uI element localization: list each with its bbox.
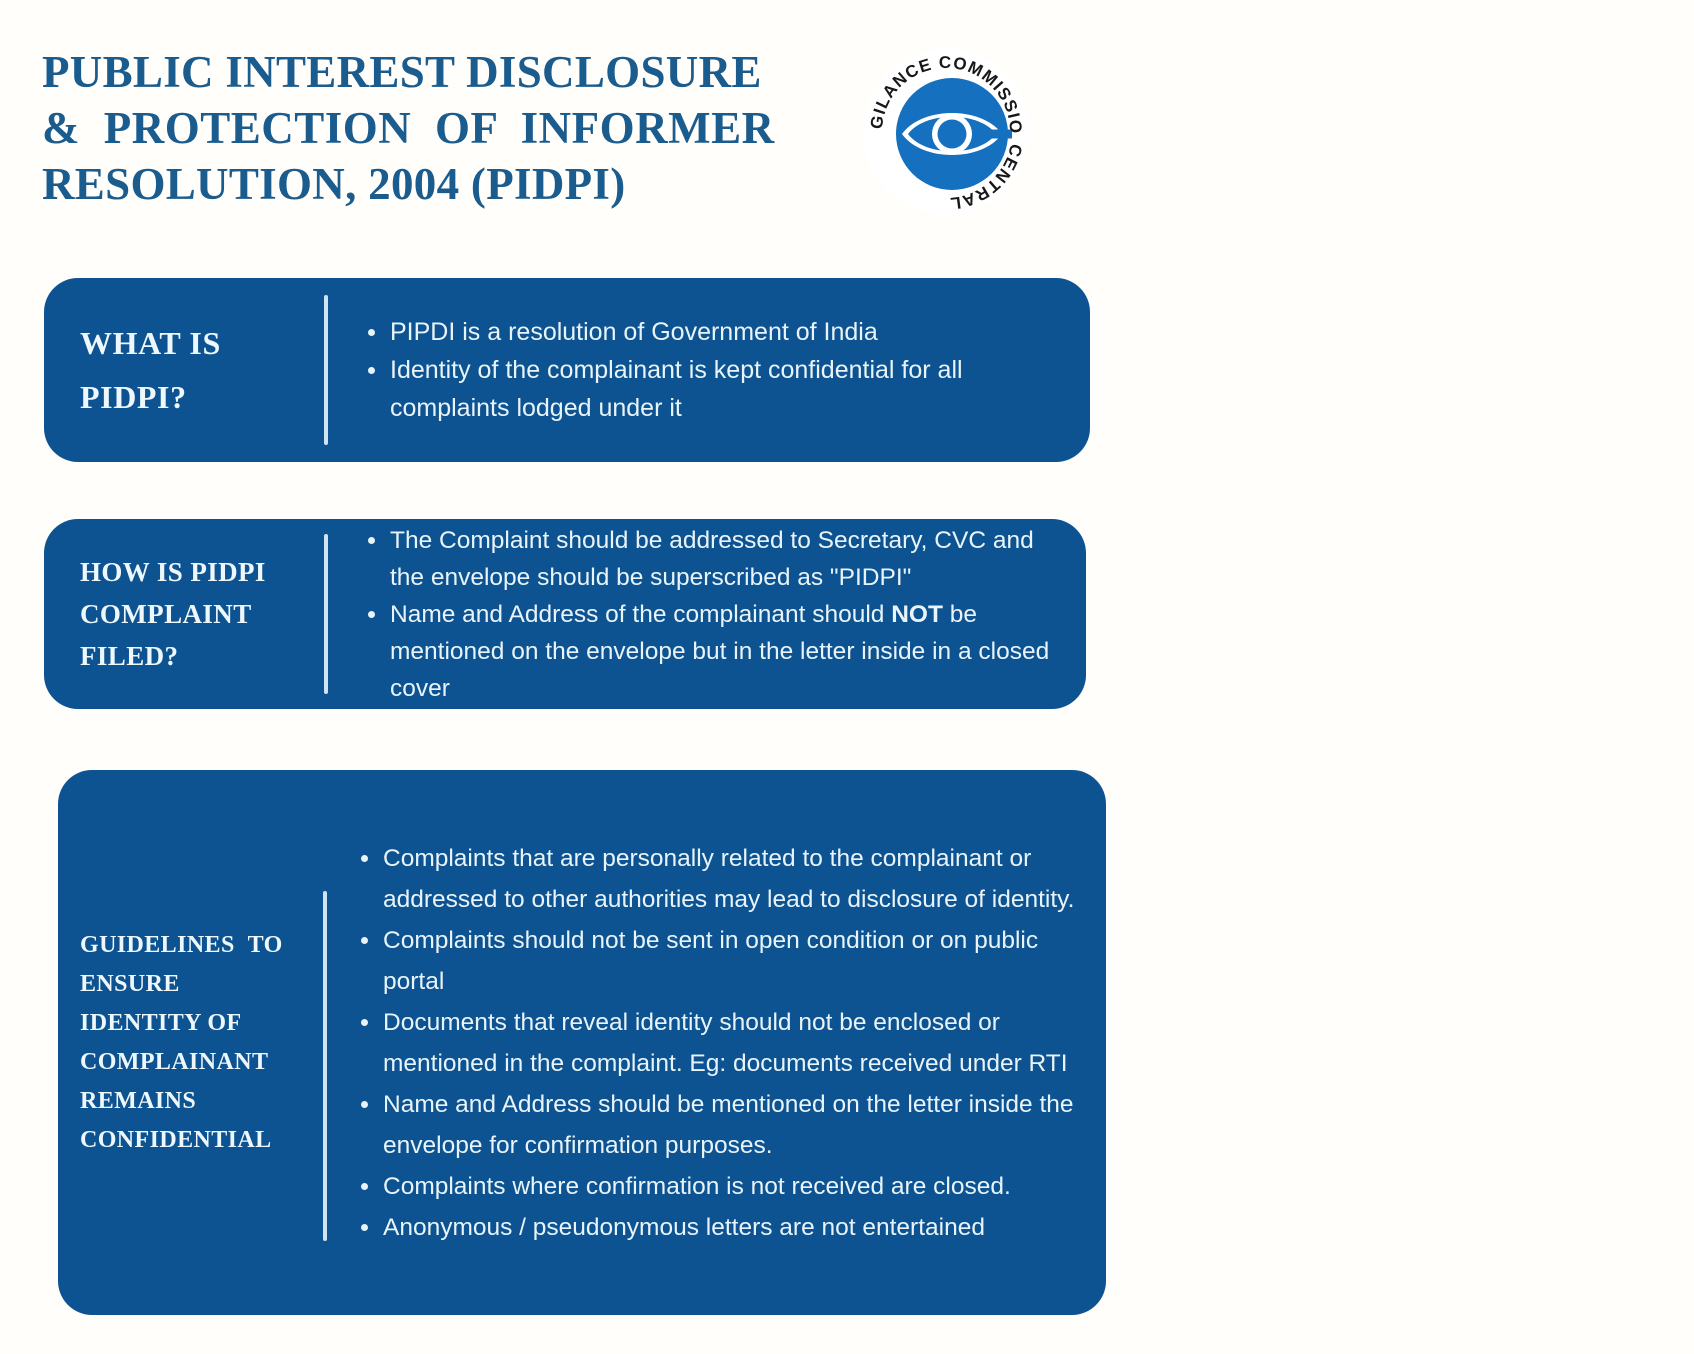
bullet-list-how-is-pidpi-complaint-filed: The Complaint should be addressed to Sec… bbox=[328, 522, 1086, 707]
list-item: Identity of the complainant is kept conf… bbox=[352, 351, 1072, 427]
bullet-text: Complaints that are personally related t… bbox=[383, 838, 1088, 920]
list-item: Complaints that are personally related t… bbox=[345, 838, 1088, 920]
bullet-text: Complaints where confirmation is not rec… bbox=[383, 1166, 1088, 1207]
bullet-text: PIPDI is a resolution of Government of I… bbox=[390, 313, 1072, 351]
card-label-line: IDENTITY OF bbox=[80, 1004, 323, 1043]
page-title-line-2: & PROTECTION OF INFORMER bbox=[42, 100, 842, 156]
bullet-text-emphasis: NOT bbox=[891, 601, 943, 628]
infographic-page: PUBLIC INTEREST DISCLOSURE & PROTECTION … bbox=[0, 0, 1694, 1354]
bullet-text: Complaints should not be sent in open co… bbox=[383, 920, 1088, 1002]
page-title: PUBLIC INTEREST DISCLOSURE & PROTECTION … bbox=[42, 44, 842, 212]
bullet-text: Documents that reveal identity should no… bbox=[383, 1002, 1088, 1084]
bullet-text: Anonymous / pseudonymous letters are not… bbox=[383, 1207, 1088, 1248]
bullet-list-guidelines: Complaints that are personally related t… bbox=[327, 838, 1106, 1248]
bullet-text-composite: Name and Address of the complainant shou… bbox=[390, 596, 1068, 707]
card-label-line: WHAT IS bbox=[80, 316, 324, 370]
list-item: Complaints where confirmation is not rec… bbox=[345, 1166, 1088, 1207]
page-title-line-3: RESOLUTION, 2004 (PIDPI) bbox=[42, 156, 842, 212]
card-label-line: PIDPI? bbox=[80, 370, 324, 424]
list-item: Documents that reveal identity should no… bbox=[345, 1002, 1088, 1084]
page-title-line-1: PUBLIC INTEREST DISCLOSURE bbox=[42, 44, 842, 100]
card-label-guidelines: GUIDELINES TO ENSURE IDENTITY OF COMPLAI… bbox=[58, 926, 323, 1160]
card-label-line: CONFIDENTIAL bbox=[80, 1121, 323, 1160]
card-label-what-is-pidpi: WHAT IS PIDPI? bbox=[44, 316, 324, 424]
card-label-line: GUIDELINES TO bbox=[80, 926, 323, 965]
list-item: The Complaint should be addressed to Sec… bbox=[352, 522, 1068, 596]
cvc-logo: VIGILANCE COMMISSION CENTRAL bbox=[862, 48, 1030, 216]
list-item: PIPDI is a resolution of Government of I… bbox=[352, 313, 1072, 351]
card-label-line: REMAINS bbox=[80, 1082, 323, 1121]
bullet-text-part: Name and Address of the complainant shou… bbox=[390, 601, 891, 628]
bullet-text: Name and Address should be mentioned on … bbox=[383, 1084, 1088, 1166]
bullet-text: The Complaint should be addressed to Sec… bbox=[390, 522, 1068, 596]
list-item: Anonymous / pseudonymous letters are not… bbox=[345, 1207, 1088, 1248]
list-item: Name and Address of the complainant shou… bbox=[352, 596, 1068, 707]
card-label-line: HOW IS PIDPI bbox=[80, 551, 324, 593]
list-item: Complaints should not be sent in open co… bbox=[345, 920, 1088, 1002]
card-label-line: COMPLAINT bbox=[80, 593, 324, 635]
card-label-line: ENSURE bbox=[80, 965, 323, 1004]
card-label-line: FILED? bbox=[80, 635, 324, 677]
bullet-text: Identity of the complainant is kept conf… bbox=[390, 351, 1072, 427]
card-how-is-pidpi-complaint-filed: HOW IS PIDPI COMPLAINT FILED? The Compla… bbox=[44, 519, 1086, 709]
list-item: Name and Address should be mentioned on … bbox=[345, 1084, 1088, 1166]
card-what-is-pidpi: WHAT IS PIDPI? PIPDI is a resolution of … bbox=[44, 278, 1090, 462]
header: PUBLIC INTEREST DISCLOSURE & PROTECTION … bbox=[0, 0, 1694, 250]
card-label-how-is-pidpi-complaint-filed: HOW IS PIDPI COMPLAINT FILED? bbox=[44, 551, 324, 677]
card-label-line: COMPLAINANT bbox=[80, 1043, 323, 1082]
card-guidelines-to-ensure-identity-confidential: GUIDELINES TO ENSURE IDENTITY OF COMPLAI… bbox=[58, 770, 1106, 1315]
bullet-list-what-is-pidpi: PIPDI is a resolution of Government of I… bbox=[328, 313, 1090, 427]
